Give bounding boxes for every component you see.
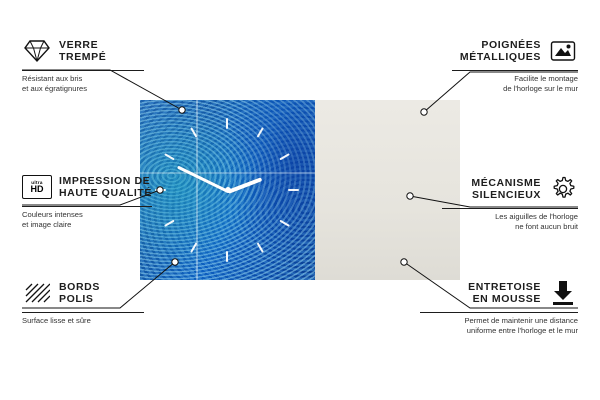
diamond-icon <box>22 36 52 66</box>
callout-verre-trempe: VERRE TREMPÉ Résistant aux bris et aux é… <box>22 36 144 93</box>
divider <box>22 70 144 71</box>
callout-title: IMPRESSION DE HAUTE QUALITÉ <box>59 175 152 199</box>
callout-title: ENTRETOISE EN MOUSSE <box>468 281 541 305</box>
callout-title: BORDS POLIS <box>59 281 100 305</box>
callout-impression-haute-qualite: ultra HD IMPRESSION DE HAUTE QUALITÉ Cou… <box>22 172 152 229</box>
callout-poignees-metalliques: POIGNÉES MÉTALLIQUES Facilite le montage… <box>452 36 578 93</box>
callout-title: POIGNÉES MÉTALLIQUES <box>460 39 541 63</box>
hanger-bracket-icon <box>548 36 578 66</box>
callout-mecanisme-silencieux: MÉCANISME SILENCIEUX Les aiguilles de l'… <box>442 174 578 231</box>
callout-title: MÉCANISME SILENCIEUX <box>471 177 541 201</box>
infographic-canvas: VERRE TREMPÉ Résistant aux bris et aux é… <box>0 0 600 400</box>
divider <box>442 208 578 209</box>
gear-icon <box>548 174 578 204</box>
down-arrow-spacer-icon <box>548 278 578 308</box>
divider <box>22 206 152 207</box>
divider <box>420 312 578 313</box>
clock-hand-pivot <box>225 187 231 193</box>
callout-title: VERRE TREMPÉ <box>59 39 106 63</box>
divider <box>452 70 578 71</box>
callout-entretoise-en-mousse: ENTRETOISE EN MOUSSE Permet de maintenir… <box>420 278 578 335</box>
callout-desc: Les aiguilles de l'horloge ne font aucun… <box>442 212 578 231</box>
callout-desc: Facilite le montage de l'horloge sur le … <box>452 74 578 93</box>
product-image <box>140 100 460 280</box>
accessories-panel <box>315 100 460 280</box>
callout-desc: Résistant aux bris et aux égratignures <box>22 74 144 93</box>
divider <box>22 312 144 313</box>
callout-desc: Surface lisse et sûre <box>22 316 144 326</box>
polished-edges-icon <box>22 278 52 308</box>
ultra-hd-badge-icon: ultra HD <box>22 172 52 202</box>
callout-bords-polis: BORDS POLIS Surface lisse et sûre <box>22 278 144 326</box>
callout-desc: Permet de maintenir une distance uniform… <box>420 316 578 335</box>
callout-desc: Couleurs intenses et image claire <box>22 210 152 229</box>
clock-face-panel <box>140 100 315 280</box>
